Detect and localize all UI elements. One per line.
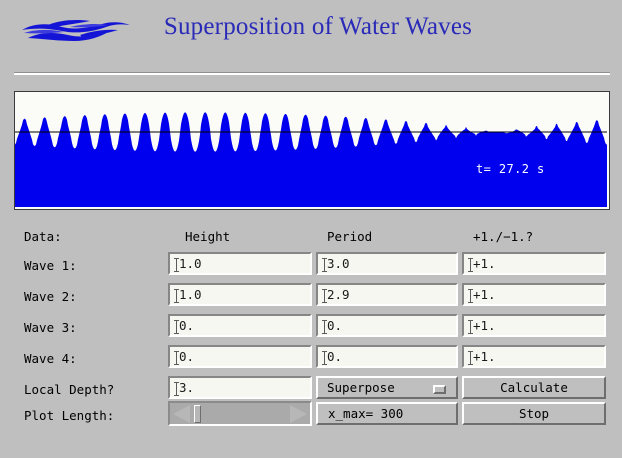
plot-length-scrollbar[interactable] — [168, 401, 312, 426]
option-menu-indicator-icon — [433, 385, 446, 394]
wave-2-height-input[interactable]: 1.0 — [168, 283, 312, 306]
xmax-readout: x_max= 300 — [316, 402, 458, 425]
wave-4-height-input[interactable]: 0. — [168, 345, 312, 368]
wave-1-height-input[interactable]: 1.0 — [168, 252, 312, 275]
wave-4-height-value: 0. — [179, 349, 194, 364]
column-header-sign: +1./−1.? — [473, 229, 533, 244]
row-label-local-depth: Local Depth? — [24, 382, 114, 397]
wave-2-sign-input[interactable]: +1. — [462, 283, 606, 306]
row-label-wave-1: Wave 1: — [24, 258, 77, 273]
wave-3-period-value: 0. — [327, 318, 342, 333]
wave-2-height-value: 1.0 — [179, 287, 202, 302]
wave-1-sign-value: +1. — [473, 256, 496, 271]
water-surface-fill — [15, 112, 607, 207]
wave-4-period-input[interactable]: 0. — [316, 345, 458, 368]
local-depth-input[interactable]: 3. — [168, 376, 312, 399]
wave-2-sign-value: +1. — [473, 287, 496, 302]
wave-2-period-value: 2.9 — [327, 287, 350, 302]
mode-select[interactable]: Superpose — [316, 376, 458, 399]
header-divider — [14, 72, 610, 75]
local-depth-value: 3. — [179, 380, 194, 395]
wave-3-sign-input[interactable]: +1. — [462, 314, 606, 337]
wave-3-height-value: 0. — [179, 318, 194, 333]
scrollbar-thumb[interactable] — [194, 405, 201, 423]
scroll-left-arrow-icon[interactable] — [173, 405, 190, 423]
wave-1-period-value: 3.0 — [327, 256, 350, 271]
calculate-button[interactable]: Calculate — [462, 376, 606, 399]
data-label: Data: — [24, 229, 62, 244]
row-label-wave-2: Wave 2: — [24, 289, 77, 304]
wave-3-sign-value: +1. — [473, 318, 496, 333]
wave-plot — [14, 91, 610, 210]
water-waves-application: Superposition of Water Waves t= 27.2 s D… — [0, 0, 622, 458]
stop-button[interactable]: Stop — [462, 402, 606, 425]
wave-3-height-input[interactable]: 0. — [168, 314, 312, 337]
plot-time-label: t= 27.2 s — [476, 162, 545, 176]
wave-plot-canvas — [15, 92, 607, 207]
wave-1-sign-input[interactable]: +1. — [462, 252, 606, 275]
wave-1-height-value: 1.0 — [179, 256, 202, 271]
wave-3-period-input[interactable]: 0. — [316, 314, 458, 337]
mode-select-value: Superpose — [327, 380, 395, 395]
column-header-height: Height — [185, 229, 230, 244]
wave-1-period-input[interactable]: 3.0 — [316, 252, 458, 275]
row-label-wave-4: Wave 4: — [24, 351, 77, 366]
row-label-plot-length: Plot Length: — [24, 408, 114, 423]
wave-4-period-value: 0. — [327, 349, 342, 364]
wave-2-period-input[interactable]: 2.9 — [316, 283, 458, 306]
wave-4-sign-value: +1. — [473, 349, 496, 364]
column-header-period: Period — [327, 229, 372, 244]
row-label-wave-3: Wave 3: — [24, 320, 77, 335]
scroll-right-arrow-icon[interactable] — [290, 405, 307, 423]
page-title: Superposition of Water Waves — [0, 13, 622, 41]
wave-4-sign-input[interactable]: +1. — [462, 345, 606, 368]
